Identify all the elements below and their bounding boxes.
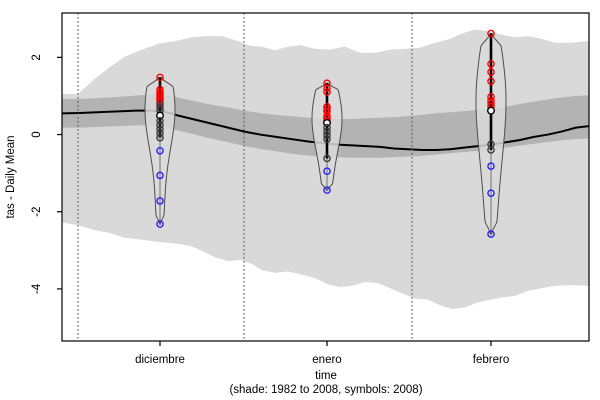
y-tick-label: -2 <box>31 207 43 217</box>
x-axis-title: time <box>315 370 337 382</box>
x-tick-label-diciembre: diciembre <box>135 354 185 366</box>
y-tick-label: -4 <box>31 283 43 294</box>
y-tick-label: 2 <box>31 54 43 60</box>
x-tick-label-enero: enero <box>312 354 341 366</box>
y-tick-label: 0 <box>31 131 43 137</box>
y-axis-title: tas - Daily Mean <box>5 135 17 218</box>
chart-figure: 20-2-4 diciembreenerofebrero tas - Daily… <box>0 0 600 400</box>
x-tick-label-febrero: febrero <box>473 354 509 366</box>
data-symbol <box>488 107 495 114</box>
x-axis-subtitle: (shade: 1982 to 2008, symbols: 2008) <box>229 384 422 396</box>
violin-plot-svg: 20-2-4 diciembreenerofebrero tas - Daily… <box>0 0 600 400</box>
